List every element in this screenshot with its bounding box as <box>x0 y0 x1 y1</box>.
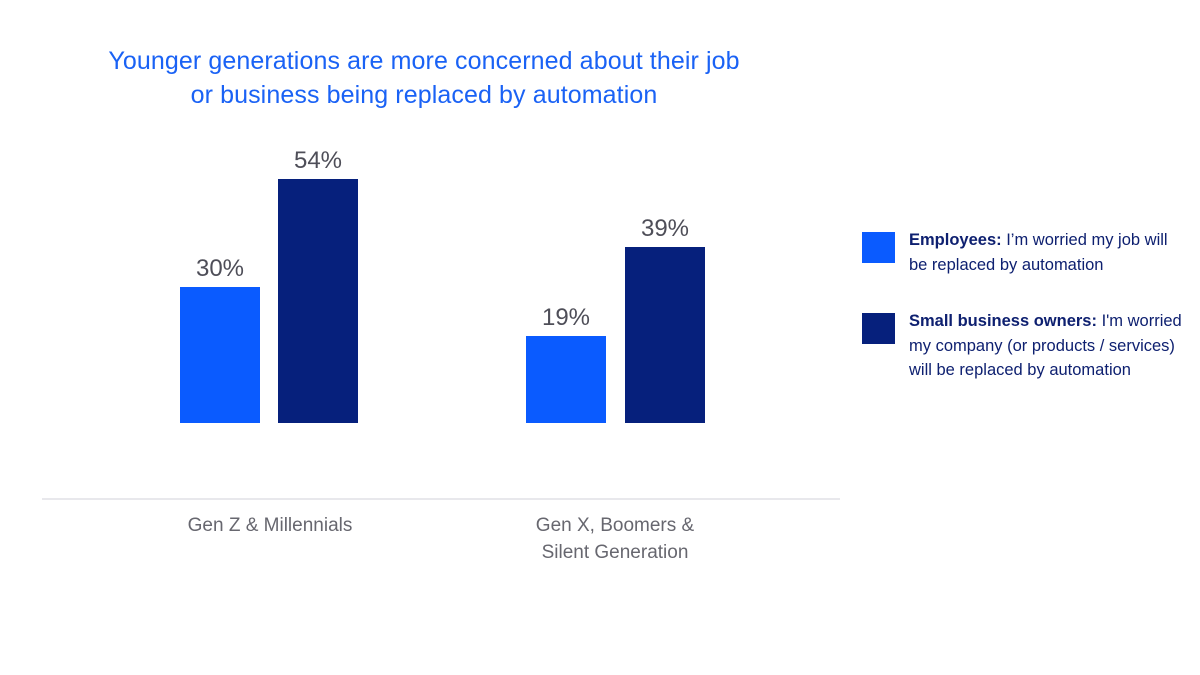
bar-group1-owners[interactable]: 39% <box>625 247 705 423</box>
x-axis-baseline <box>42 498 840 500</box>
legend-text-employees: Employees: I’m worried my job will be re… <box>909 228 1182 277</box>
bar-group0-owners[interactable]: 54% <box>278 179 358 423</box>
legend-text-owners: Small business owners: I'm worried my co… <box>909 309 1182 383</box>
bar-value-label: 54% <box>264 147 372 175</box>
bar-rect[interactable] <box>625 247 705 423</box>
category-label-0: Gen Z & Millennials <box>110 512 430 539</box>
bar-rect[interactable] <box>180 287 260 423</box>
legend-swatch-owners-icon <box>862 313 895 344</box>
bar-group1-employees[interactable]: 19% <box>526 336 606 423</box>
chart-legend: Employees: I’m worried my job will be re… <box>862 228 1182 415</box>
legend-lead-employees: Employees: <box>909 231 1002 249</box>
legend-lead-owners: Small business owners: <box>909 312 1097 330</box>
bar-value-label: 30% <box>166 255 274 283</box>
legend-item-owners[interactable]: Small business owners: I'm worried my co… <box>862 309 1182 383</box>
bar-value-label: 39% <box>611 215 719 243</box>
bar-rect[interactable] <box>278 179 358 423</box>
bar-rect[interactable] <box>526 336 606 423</box>
legend-item-employees[interactable]: Employees: I’m worried my job will be re… <box>862 228 1182 277</box>
chart-plot-area: 30% 54% 19% 39% Gen Z & Millennials Gen … <box>0 0 860 600</box>
bar-value-label: 19% <box>512 304 620 332</box>
category-label-1: Gen X, Boomers & Silent Generation <box>455 512 775 566</box>
legend-swatch-employees-icon <box>862 232 895 263</box>
bar-group0-employees[interactable]: 30% <box>180 287 260 423</box>
